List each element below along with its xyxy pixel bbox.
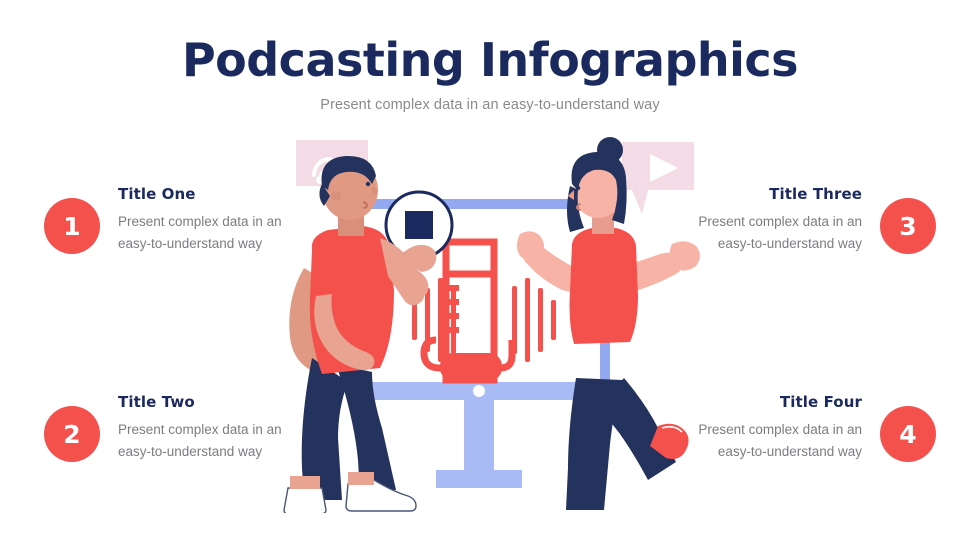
number-badge-2: 2	[44, 406, 100, 462]
info-item-2[interactable]: 2 Title Two Present complex data in an e…	[44, 393, 294, 463]
info-item-3-title: Title Three	[694, 185, 862, 203]
number-badge-1: 1	[44, 198, 100, 254]
number-badge-3: 3	[880, 198, 936, 254]
slide-root: Podcasting Infographics Present complex …	[0, 0, 980, 551]
info-item-2-text: Title Two Present complex data in an eas…	[118, 393, 286, 463]
header: Podcasting Infographics Present complex …	[0, 34, 980, 113]
page-title: Podcasting Infographics	[0, 34, 980, 87]
podcast-illustration	[276, 128, 704, 513]
info-item-2-desc: Present complex data in an easy-to-under…	[118, 419, 286, 463]
number-badge-4: 4	[880, 406, 936, 462]
info-item-1[interactable]: 1 Title One Present complex data in an e…	[44, 185, 294, 255]
info-item-1-desc: Present complex data in an easy-to-under…	[118, 211, 286, 255]
info-item-4-desc: Present complex data in an easy-to-under…	[694, 419, 862, 463]
info-item-3-text: Title Three Present complex data in an e…	[694, 185, 862, 255]
info-item-4-title: Title Four	[694, 393, 862, 411]
info-item-2-title: Title Two	[118, 393, 286, 411]
info-item-1-title: Title One	[118, 185, 286, 203]
info-item-3-desc: Present complex data in an easy-to-under…	[694, 211, 862, 255]
info-item-3[interactable]: 3 Title Three Present complex data in an…	[686, 185, 936, 255]
info-item-4-text: Title Four Present complex data in an ea…	[694, 393, 862, 463]
info-item-1-text: Title One Present complex data in an eas…	[118, 185, 286, 255]
page-subtitle: Present complex data in an easy-to-under…	[0, 97, 980, 113]
info-item-4[interactable]: 4 Title Four Present complex data in an …	[686, 393, 936, 463]
play-button-speech-bubble	[622, 142, 694, 214]
microphone-foot	[440, 353, 502, 381]
